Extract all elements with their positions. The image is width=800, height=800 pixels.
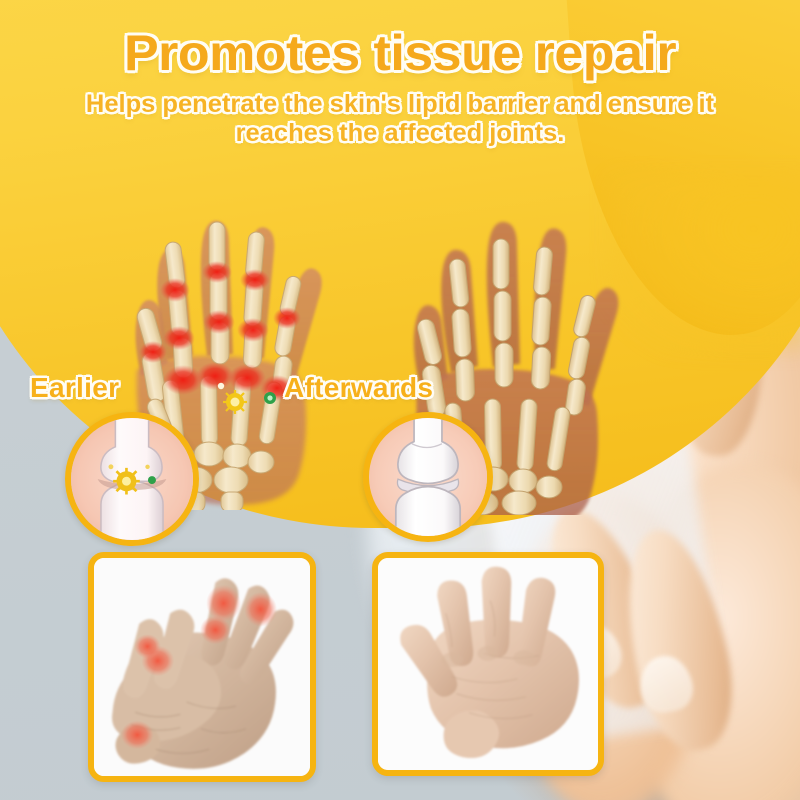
- crystal-marker-yellow: [223, 390, 247, 414]
- crystal-marker-green: [264, 392, 276, 404]
- photo-arthritic-hands: [94, 558, 310, 776]
- subtitle-line-1: Helps penetrate the skin's lipid barrier…: [86, 90, 714, 118]
- promo-banner: Promotes tissue repair Helps penetrate t…: [0, 0, 800, 800]
- page-title: Promotes tissue repair: [0, 28, 800, 78]
- subtitle-line-2: reaches the affected joints.: [0, 119, 800, 148]
- label-earlier: Earlier: [30, 372, 119, 404]
- label-afterwards: Afterwards: [284, 372, 433, 404]
- photo-card-before: [88, 552, 316, 782]
- joint-closeup-after: [363, 412, 493, 542]
- joint-closeup-before: [65, 412, 199, 546]
- header-text-block: Promotes tissue repair Helps penetrate t…: [0, 28, 800, 148]
- crystal-marker-small: [218, 383, 224, 389]
- photo-card-after: [372, 552, 604, 776]
- photo-healthy-hand: [378, 558, 598, 770]
- page-subtitle: Helps penetrate the skin's lipid barrier…: [0, 90, 800, 148]
